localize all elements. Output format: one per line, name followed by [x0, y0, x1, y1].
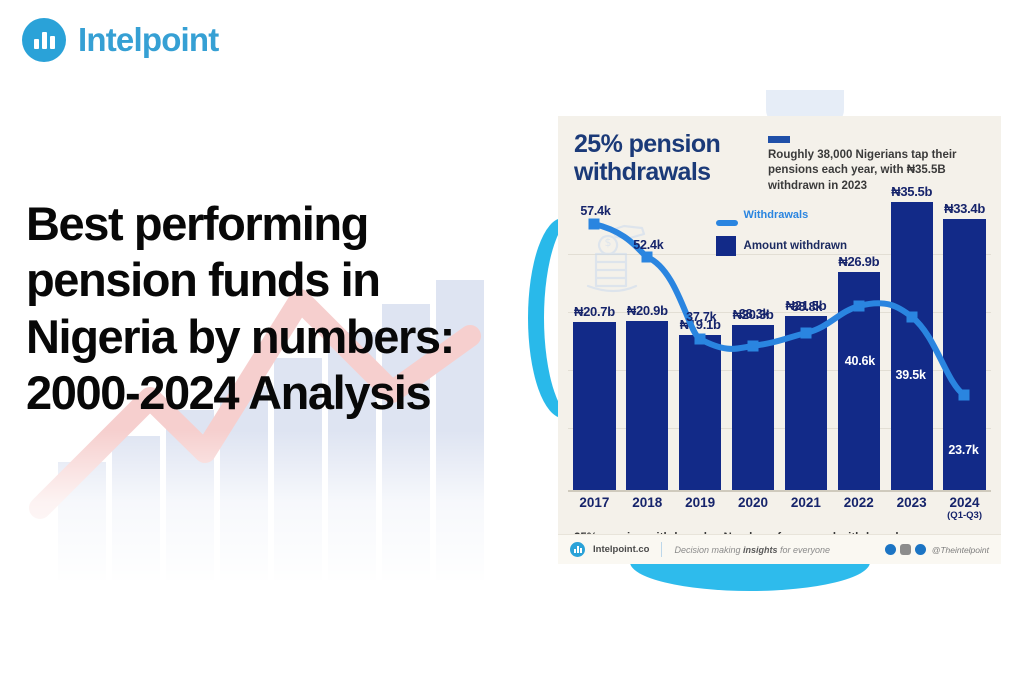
line-value-label-2017: 57.4k: [580, 204, 610, 218]
x-tick-2024-sublabel: (Q1-Q3): [938, 511, 991, 521]
chart-card-wrapper: 25% pension withdrawals Roughly 38,000 N…: [520, 78, 1020, 598]
x-tick-2024-year: 2024: [950, 495, 980, 510]
legend-label-withdrawals: Withdrawals: [744, 209, 809, 221]
footer-tagline: Decision making insights for everyone: [674, 545, 830, 555]
line-value-label-2018: 52.4k: [633, 238, 663, 252]
x-tick-2024: 2024 (Q1-Q3): [938, 496, 991, 521]
x-tick-2021: 2021: [780, 496, 833, 521]
facebook-icon[interactable]: [915, 544, 926, 555]
chart-subtitle-block: Roughly 38,000 Nigerians tap their pensi…: [768, 130, 985, 194]
infographic-page: Intelpoint Best performing pension funds…: [0, 0, 1024, 683]
line-value-label-2021: 38.8k: [792, 300, 822, 314]
footer-tagline-pre: Decision making: [674, 545, 743, 555]
footer-tagline-strong: insights: [743, 545, 778, 555]
line-series-layer: Withdrawals Amount withdrawn 57.4k 52.4k…: [568, 202, 991, 492]
line-value-label-2020: 38.3k: [739, 307, 769, 321]
brand-logo[interactable]: Intelpoint: [22, 18, 218, 62]
line-value-label-2023: 39.5k: [895, 368, 925, 382]
x-icon[interactable]: [885, 544, 896, 555]
x-axis-ticks: 2017 2018 2019 2020 2021 2022 2023 2024 …: [568, 496, 991, 521]
bar-chart-icon: [22, 18, 66, 62]
footer-social-group: @Theintelpoint: [885, 544, 989, 555]
x-tick-2022: 2022: [832, 496, 885, 521]
brand-name: Intelpoint: [78, 21, 218, 59]
card-footer: Intelpoint.co Decision making insights f…: [558, 534, 1001, 564]
x-tick-2020: 2020: [727, 496, 780, 521]
x-tick-2018: 2018: [621, 496, 674, 521]
legend-bar-swatch: [716, 236, 736, 256]
chart-plot-area: $ ₦20.7b: [568, 202, 991, 492]
footer-handle[interactable]: @Theintelpoint: [932, 545, 989, 555]
line-value-label-2024: 23.7k: [948, 443, 978, 457]
chart-title: 25% pension withdrawals: [574, 130, 754, 194]
line-value-label-2019: 37.7k: [686, 310, 716, 324]
x-tick-2017: 2017: [568, 496, 621, 521]
chart-card: 25% pension withdrawals Roughly 38,000 N…: [558, 116, 1001, 564]
chart-subtitle: Roughly 38,000 Nigerians tap their pensi…: [768, 148, 985, 194]
x-tick-2019: 2019: [674, 496, 727, 521]
bar-value-label: ₦35.5b: [891, 184, 932, 199]
legend-label-amount: Amount withdrawn: [744, 240, 848, 252]
footer-bar-chart-icon: [570, 542, 585, 557]
x-tick-2023: 2023: [885, 496, 938, 521]
accent-bar: [768, 136, 790, 143]
footer-divider: [661, 542, 662, 557]
legend-line-swatch: [716, 220, 738, 226]
footer-site-label[interactable]: Intelpoint.co: [593, 544, 649, 555]
footer-tagline-post: for everyone: [778, 545, 831, 555]
chart-card-header: 25% pension withdrawals Roughly 38,000 N…: [558, 116, 1001, 200]
line-value-label-2022: 40.6k: [845, 354, 875, 368]
instagram-icon[interactable]: [900, 544, 911, 555]
page-title: Best performing pension funds in Nigeria…: [26, 196, 496, 422]
